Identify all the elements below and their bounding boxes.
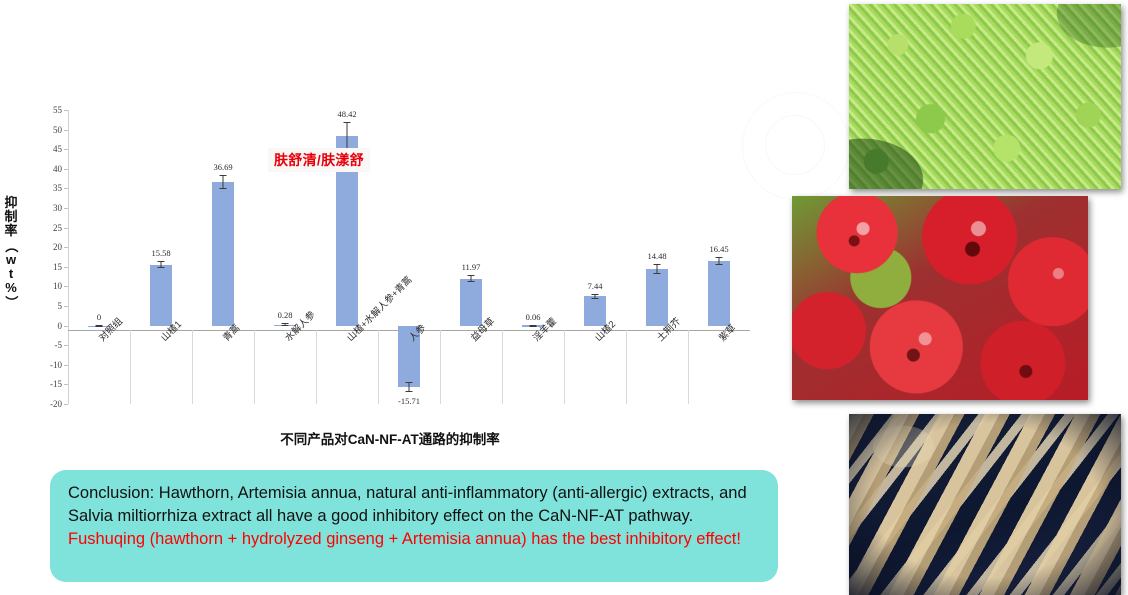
y-axis-title-char: 抑 [0,196,22,210]
y-axis-title-char: 制 [0,210,22,224]
error-bar [99,325,100,327]
y-axis-tick-label: 5 [58,301,63,311]
conclusion-callout: Conclusion: Hawthorn, Artemisia annua, n… [50,470,778,582]
x-axis-tick-separator [440,330,441,404]
y-axis-tick-mark [64,149,68,150]
bar-value-label: 36.69 [213,162,232,172]
slide-canvas: 抑制率（wt%） 5550454035302520151050-5-10-15-… [0,0,1128,595]
conclusion-text-plain: Conclusion: Hawthorn, Artemisia annua, n… [68,484,747,525]
error-bar [533,325,534,327]
y-axis-tick-label: 20 [53,242,62,252]
bar[interactable] [212,182,234,326]
bar[interactable] [708,261,730,325]
bar-value-label: 0.28 [278,310,293,320]
error-bar [657,264,658,273]
conclusion-text-highlight: Fushuqing (hawthorn + hydrolyzed ginseng… [68,530,741,548]
bar-value-label: 11.97 [462,262,481,272]
error-bar [161,261,162,269]
y-axis-title: 抑制率（wt%） [0,196,22,310]
plot-area: 5550454035302520151050-5-10-15-20 015.58… [68,110,750,404]
y-axis-tick-mark [64,384,68,385]
x-axis-tick-separator [254,330,255,404]
error-bar [223,175,224,189]
chart-title: 不同产品对CaN-NF-AT通路的抑制率 [180,428,600,448]
bar[interactable] [150,265,172,326]
bar-value-label: 14.48 [647,251,666,261]
bar-value-label: 48.42 [337,109,356,119]
error-bar [595,294,596,299]
y-axis-tick-mark [64,404,68,405]
photo-hawthorn-berries-image [792,196,1088,400]
x-axis-tick-separator [564,330,565,404]
bar-value-label: 0.06 [526,312,541,322]
error-bar [719,257,720,265]
y-axis-title-char: ） [4,292,18,314]
y-axis-tick-label: 50 [53,125,62,135]
x-axis-tick-separator [502,330,503,404]
y-axis-tick-label: 15 [53,262,62,272]
y-axis-tick-mark [64,267,68,268]
y-axis-tick-mark [64,326,68,327]
bar-value-label: 0 [97,312,101,322]
y-axis-tick-label: -5 [55,340,63,350]
bar[interactable] [646,269,668,326]
y-axis-tick-mark [64,130,68,131]
y-axis-title-char: （ [4,235,18,257]
y-axis-tick-label: 40 [53,164,62,174]
y-axis-tick-mark [64,228,68,229]
x-axis-tick-separator [192,330,193,404]
error-bar [409,382,410,391]
y-axis-tick-mark [64,188,68,189]
bar-chart: 抑制率（wt%） 5550454035302520151050-5-10-15-… [0,0,790,465]
y-axis-tick-label: -15 [50,379,62,389]
photo-artemisia-annua [849,4,1121,189]
x-axis-tick-separator [378,330,379,404]
y-axis-tick-label: 25 [53,223,62,233]
error-bar [471,275,472,282]
bar[interactable] [460,279,482,326]
bar-value-label: 15.58 [151,248,170,258]
watermark-logo [742,92,850,200]
conclusion-text: Conclusion: Hawthorn, Artemisia annua, n… [68,482,762,551]
y-axis-tick-label: -20 [50,399,62,409]
y-axis-tick-mark [64,208,68,209]
photo-ginseng-roots-image [849,414,1121,595]
y-axis-line [68,110,69,404]
bar-value-label: -15.71 [398,396,420,406]
bar-value-label: 16.45 [709,244,728,254]
photo-artemisia-annua-image [849,4,1121,189]
y-axis-tick-mark [64,365,68,366]
y-axis-tick-mark [64,306,68,307]
error-bar [347,122,348,149]
y-axis-tick-label: 10 [53,281,62,291]
y-axis-tick-mark [64,110,68,111]
highlight-annotation: 肤舒清/肤漾舒 [268,148,370,172]
y-axis-tick-mark [64,247,68,248]
photo-ginseng-roots [849,414,1121,595]
x-axis-tick-separator [688,330,689,404]
x-axis-tick-separator [130,330,131,404]
y-axis-tick-mark [64,286,68,287]
error-bar [285,323,286,325]
x-axis-tick-separator [626,330,627,404]
bar-value-label: 7.44 [588,281,603,291]
y-axis-tick-label: -10 [50,360,62,370]
y-axis-title-char: t [0,267,22,281]
photo-hawthorn-berries [792,196,1088,400]
x-axis-tick-separator [316,330,317,404]
y-axis-tick-mark [64,345,68,346]
y-axis-tick-label: 30 [53,203,62,213]
y-axis-tick-label: 45 [53,144,62,154]
y-axis-tick-mark [64,169,68,170]
y-axis-tick-label: 55 [53,105,62,115]
y-axis-tick-label: 35 [53,183,62,193]
y-axis-tick-label: 0 [58,321,63,331]
